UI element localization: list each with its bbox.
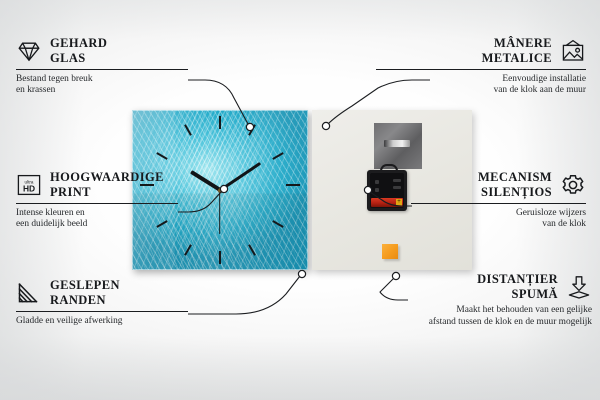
diamond-icon [16,39,42,63]
feature-title: HOOGWAARDIGE PRINT [50,170,164,199]
feature-rule [16,69,188,70]
feature-description: Bestand tegen breuk en krassen [16,74,221,97]
infographic-canvas: + GEHARD GLAS Bestand tegen breuk en kra… [0,0,600,400]
feature-description: Eenvoudige installatie van de klok aan d… [376,74,586,97]
metal-hanger-plate [374,123,422,169]
beveled-edge-icon [16,281,42,305]
feature-rule [376,69,586,70]
gear-icon [560,173,586,197]
ultra-hd-icon: ultra HD [16,173,42,197]
feature-mecanism-silentios: MECANISM SILENȚIOS Geruisloze wijzers va… [381,170,586,231]
feature-title: MECANISM SILENȚIOS [478,170,552,199]
feature-rule [16,311,188,312]
svg-text:HD: HD [23,183,35,193]
feature-manere-metalice: MÂNERE METALICE Eenvoudige installatie v… [376,36,586,97]
feature-description: Geruisloze wijzers van de klok [381,208,586,231]
leader-endpoint-geslepen-randen [298,270,305,277]
feature-gehard-glas: GEHARD GLAS Bestand tegen breuk en krass… [16,36,221,97]
feature-description: Intense kleuren en een duidelijk beeld [16,208,221,231]
feature-distantier-spuma: DISTANȚIER SPUMĂ Maakt het behouden van … [362,272,592,328]
feature-hoogwaardige-print: ultra HD HOOGWAARDIGE PRINT Intense kleu… [16,170,221,231]
picture-hanging-icon [560,39,586,63]
foam-spacer-icon [566,275,592,299]
feature-rule [411,203,586,204]
feature-title: MÂNERE METALICE [482,36,552,65]
foam-spacer [382,244,398,259]
feature-description: Maakt het behouden van een gelijke afsta… [362,305,592,328]
feature-geslepen-randen: GESLEPEN RANDEN Gladde en veilige afwerk… [16,278,221,327]
feature-title: GESLEPEN RANDEN [50,278,120,307]
feature-title: DISTANȚIER SPUMĂ [477,272,558,301]
feature-title: GEHARD GLAS [50,36,107,65]
feature-rule [16,203,178,204]
feature-description: Gladde en veilige afwerking [16,316,221,328]
